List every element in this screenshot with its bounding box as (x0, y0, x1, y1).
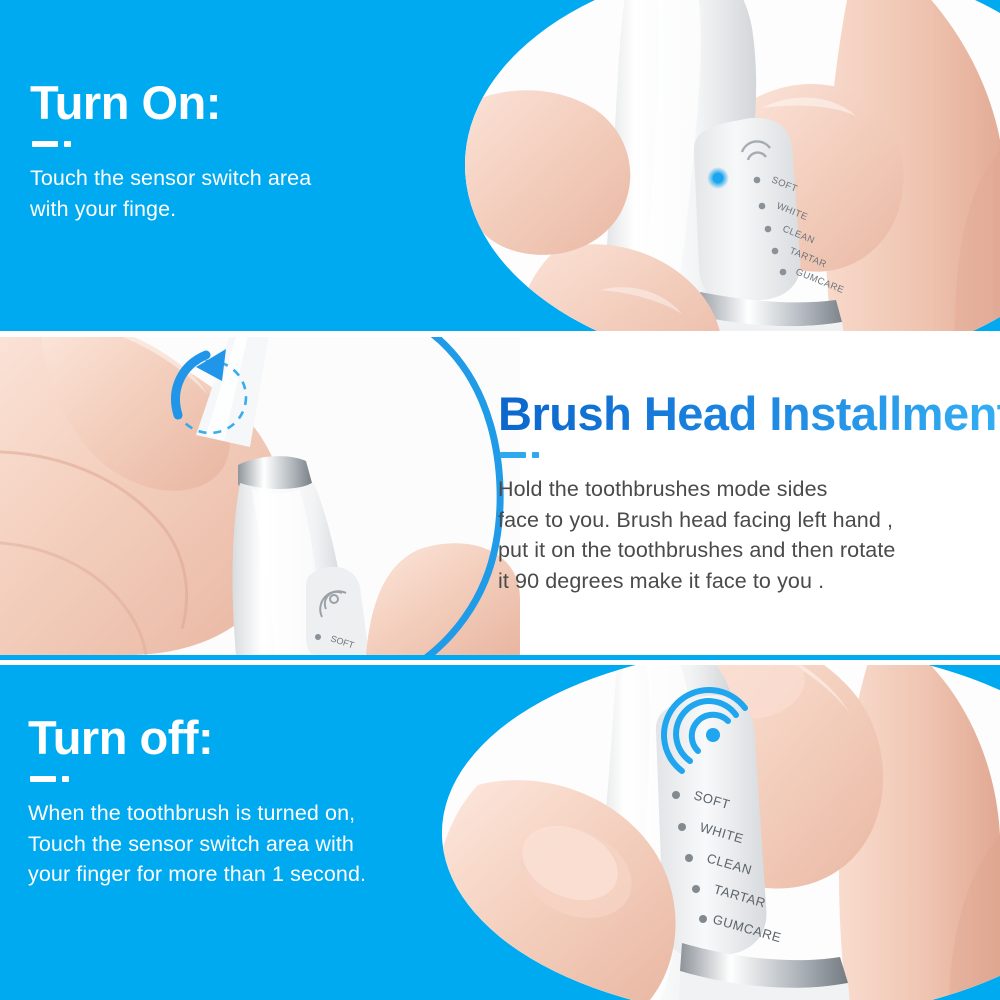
divider-mark-turn-off (30, 776, 366, 782)
body-turn-off: When the toothbrush is turned on, Touch … (28, 798, 366, 890)
divider-dash (500, 452, 526, 458)
panel-turn-off: SOFT WHITE CLEAN TARTAR GUMCARE (0, 665, 1000, 1000)
body-line: it 90 degrees make it face to you . (498, 566, 1000, 597)
body-line: face to you. Brush head facing left hand… (498, 505, 1000, 536)
body-line: with your finge. (30, 194, 311, 225)
divider-dot (532, 452, 539, 458)
body-line: Touch the sensor switch area with (28, 829, 366, 860)
divider-dash (30, 776, 56, 782)
body-brush-head: Hold the toothbrushes mode sides face to… (498, 474, 1000, 596)
body-line: Hold the toothbrushes mode sides (498, 474, 1000, 505)
panel-brush-head: SOFT Brush Head Installment: (0, 337, 1000, 655)
copy-brush-head: Brush Head Installment: Hold the toothbr… (498, 389, 1000, 596)
body-turn-on: Touch the sensor switch area with your f… (30, 163, 311, 224)
divider-rule-bottom (0, 655, 1000, 660)
copy-turn-on: Turn On: Touch the sensor switch area wi… (30, 78, 311, 224)
divider-dot (64, 141, 71, 147)
instruction-sheet: SOFT WHITE CLEAN TARTAR GUMCARE (0, 0, 1000, 1000)
panel-turn-on: SOFT WHITE CLEAN TARTAR GUMCARE (0, 0, 1000, 331)
body-line: Touch the sensor switch area (30, 163, 311, 194)
headline-turn-on: Turn On: (30, 78, 311, 127)
headline-brush-head: Brush Head Installment: (498, 389, 1000, 438)
divider-mark-brush-head (500, 452, 1000, 458)
body-line: your finger for more than 1 second. (28, 859, 366, 890)
body-line: When the toothbrush is turned on, (28, 798, 366, 829)
body-line: put it on the toothbrushes and then rota… (498, 535, 1000, 566)
divider-mark-turn-on (32, 141, 311, 147)
divider-dot (62, 776, 69, 782)
divider-dash (32, 141, 58, 147)
headline-turn-off: Turn off: (28, 713, 366, 762)
copy-turn-off: Turn off: When the toothbrush is turned … (28, 713, 366, 890)
